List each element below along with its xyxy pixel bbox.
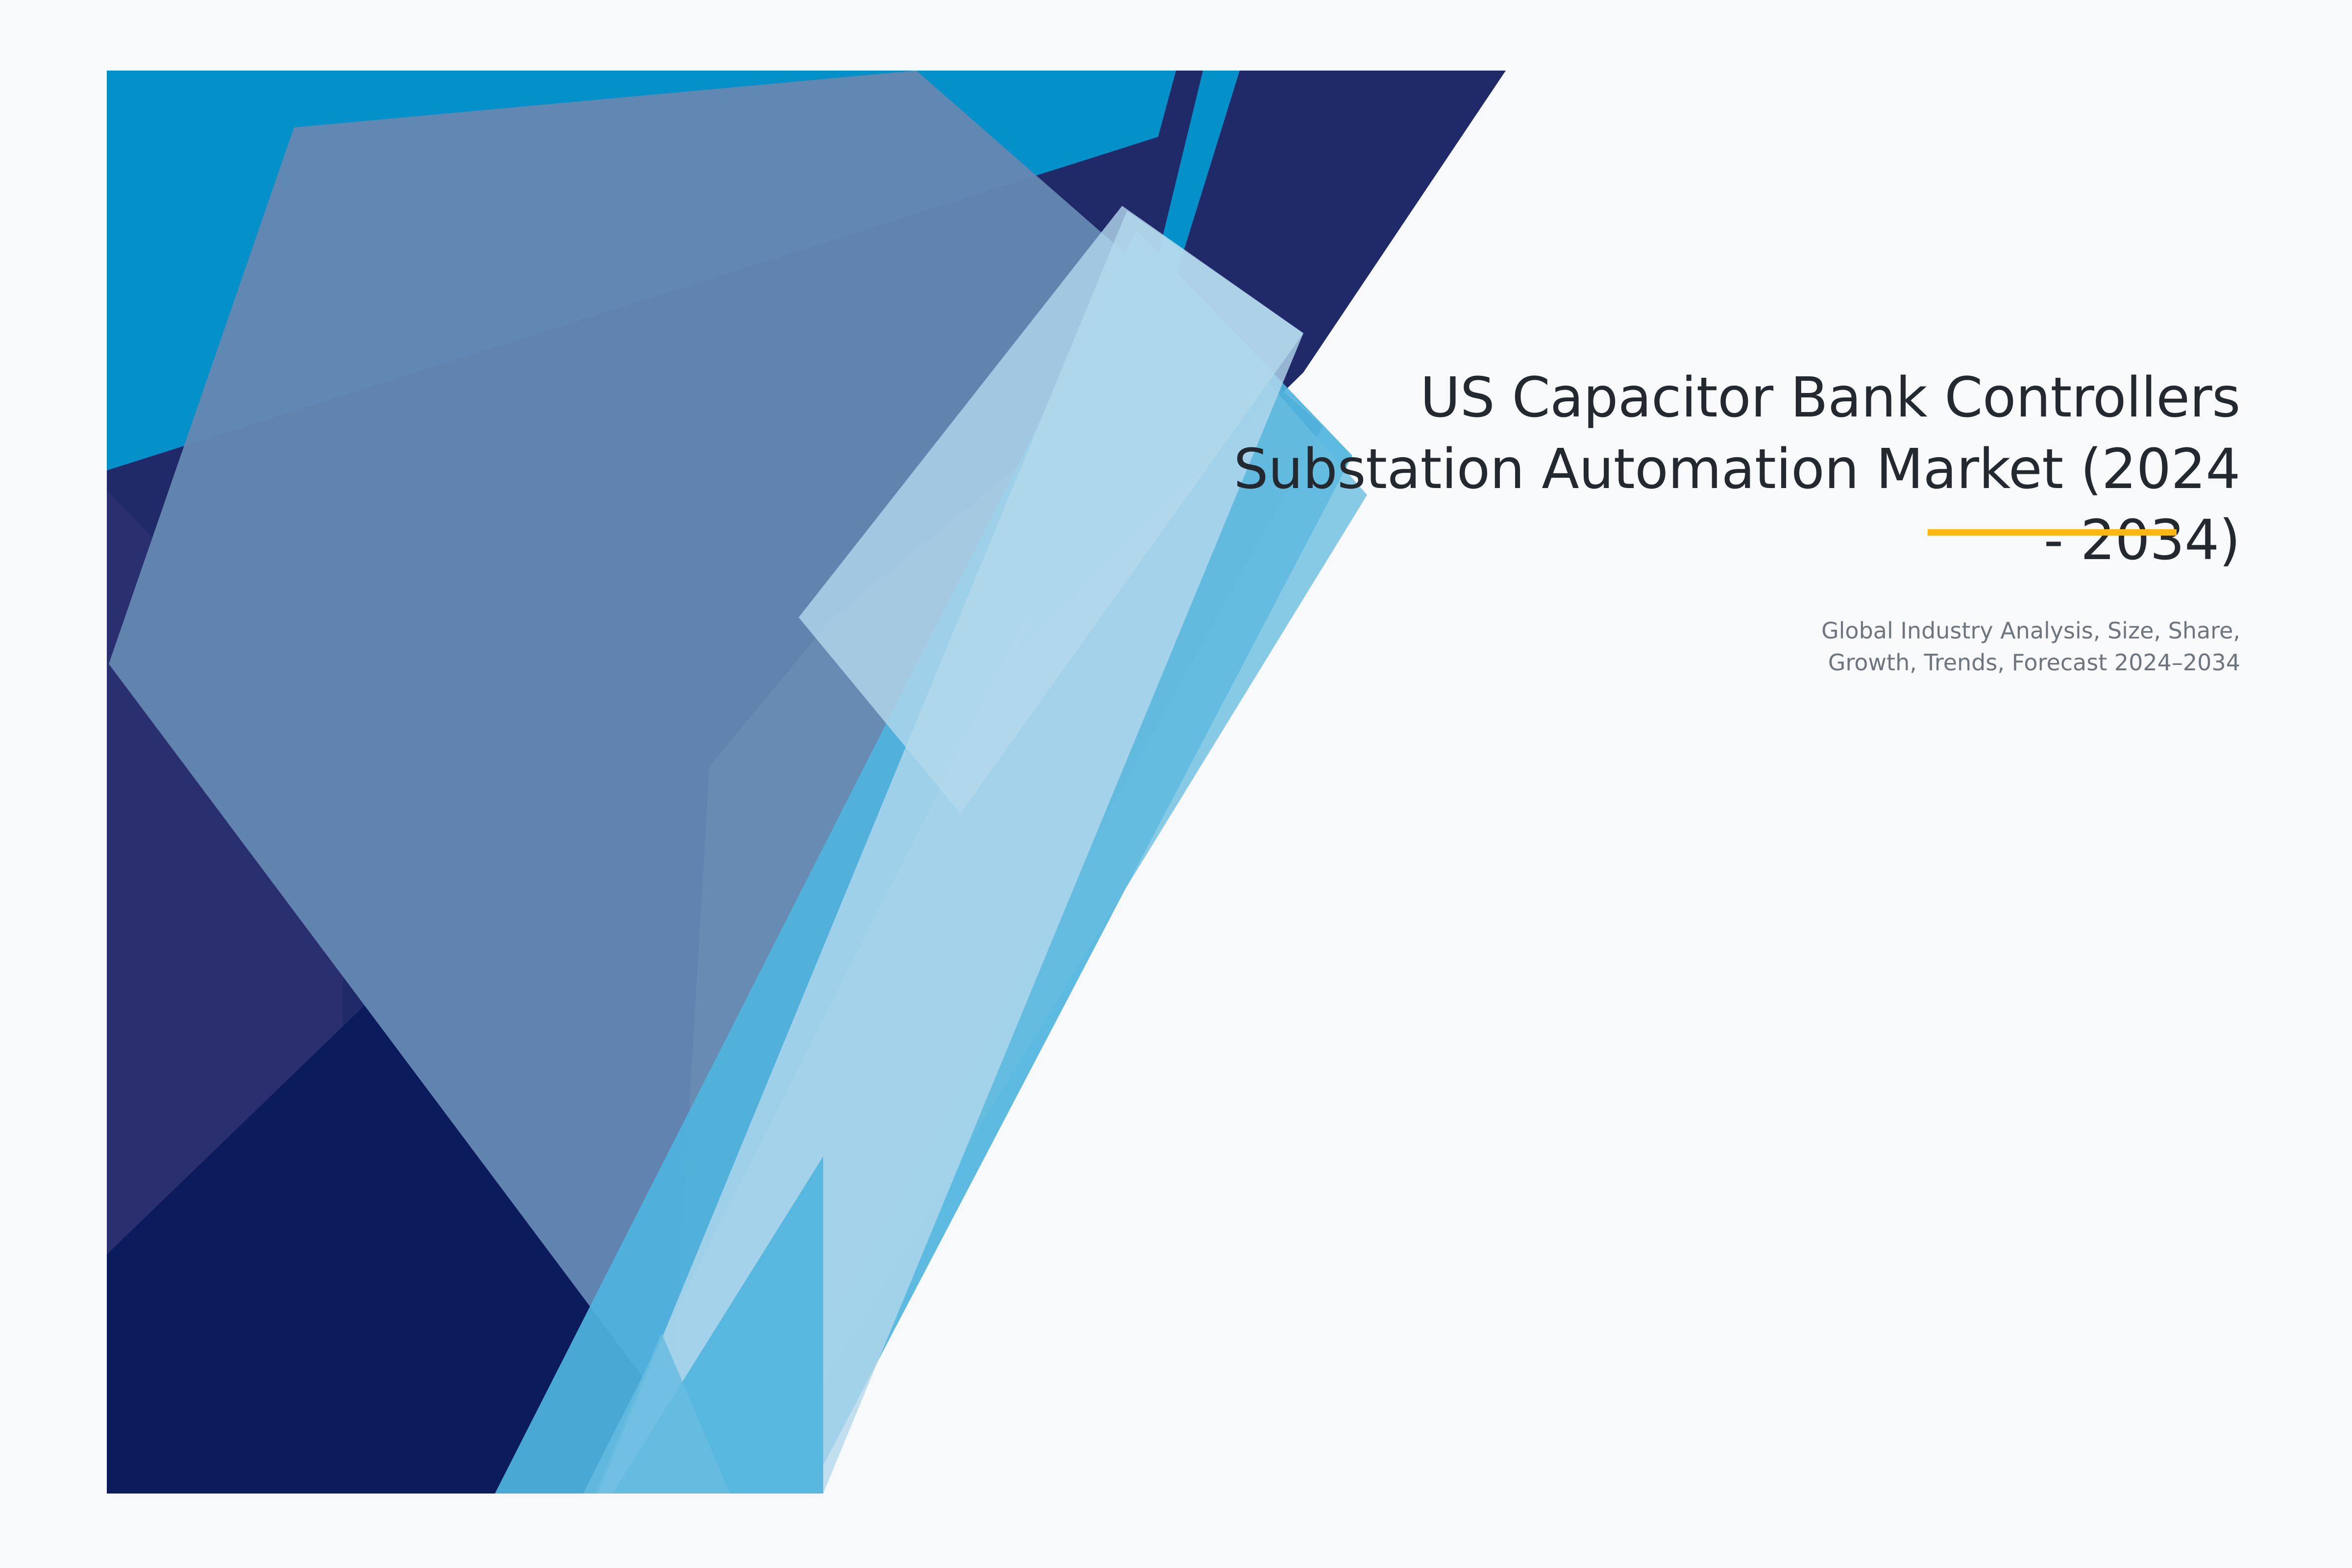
title-wrapper: US Capacitor Bank Controllers Substation… [1015, 363, 2240, 577]
cover-text-block: US Capacitor Bank Controllers Substation… [1015, 363, 2240, 679]
report-cover-page: US Capacitor Bank Controllers Substation… [0, 0, 2352, 1568]
title-accent-bar [1928, 529, 2177, 536]
page-title: US Capacitor Bank Controllers Substation… [1015, 363, 2240, 577]
page-subtitle: Global Industry Analysis, Size, Share, G… [1015, 615, 2240, 679]
abstract-geometric-artwork [0, 0, 2352, 1568]
